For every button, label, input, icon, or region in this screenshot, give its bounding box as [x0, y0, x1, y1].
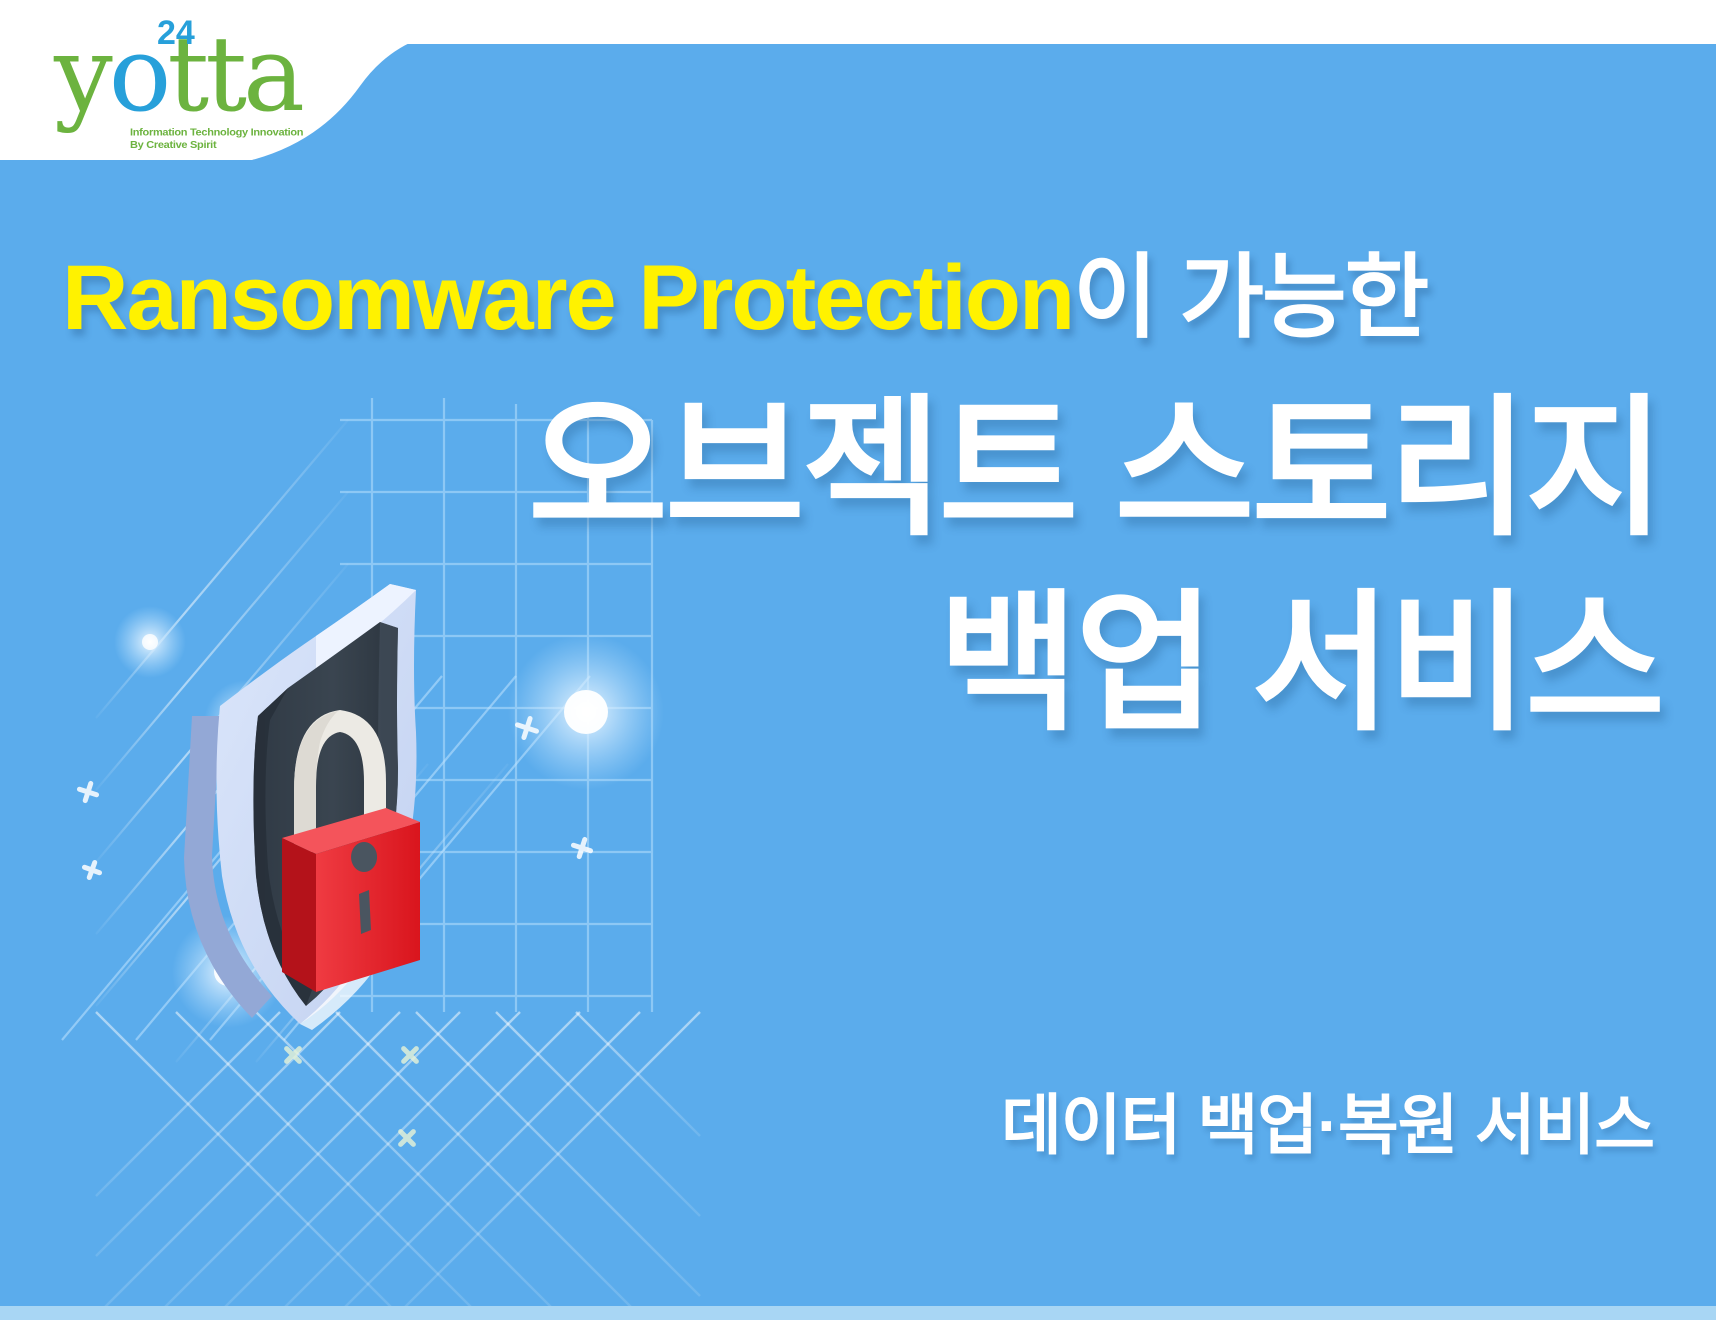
logo-panel: yotta 24 Information Technology Innovati…	[0, 0, 470, 200]
banner-root: Ransomware Protection이 가능한 오브젝트 스토리지 백업 …	[0, 0, 1716, 1320]
headline-korean: 이 가능한	[1073, 247, 1427, 349]
shield-with-padlock-icon	[140, 520, 560, 1040]
logo-letter-a: a	[243, 13, 301, 135]
bottom-light-strip	[0, 1306, 1716, 1320]
page-title: 오브젝트 스토리지 백업 서비스	[528, 372, 1662, 761]
logo-lockup: yotta 24 Information Technology Innovati…	[54, 22, 304, 172]
logo-letter-y: y	[54, 13, 109, 135]
logo-wordmark: yotta 24	[54, 22, 304, 126]
headline-english: Ransomware Protection	[62, 247, 1073, 349]
logo-tagline-line-1: Information Technology Innovation	[130, 127, 303, 139]
logo-superscript: 24	[157, 16, 195, 50]
padlock-left-face	[282, 838, 316, 992]
logo-tagline: Information Technology Innovation By Cre…	[130, 127, 303, 152]
logo-letter-t2: t	[205, 13, 243, 135]
title-line-1: 오브젝트 스토리지	[528, 372, 1662, 567]
sub-caption: 데이터 백업·복원 서비스	[1001, 1072, 1654, 1168]
logo-tagline-line-2: By Creative Spirit	[130, 140, 303, 152]
headline: Ransomware Protection이 가능한	[62, 252, 1427, 344]
title-line-2: 백업 서비스	[528, 567, 1662, 762]
